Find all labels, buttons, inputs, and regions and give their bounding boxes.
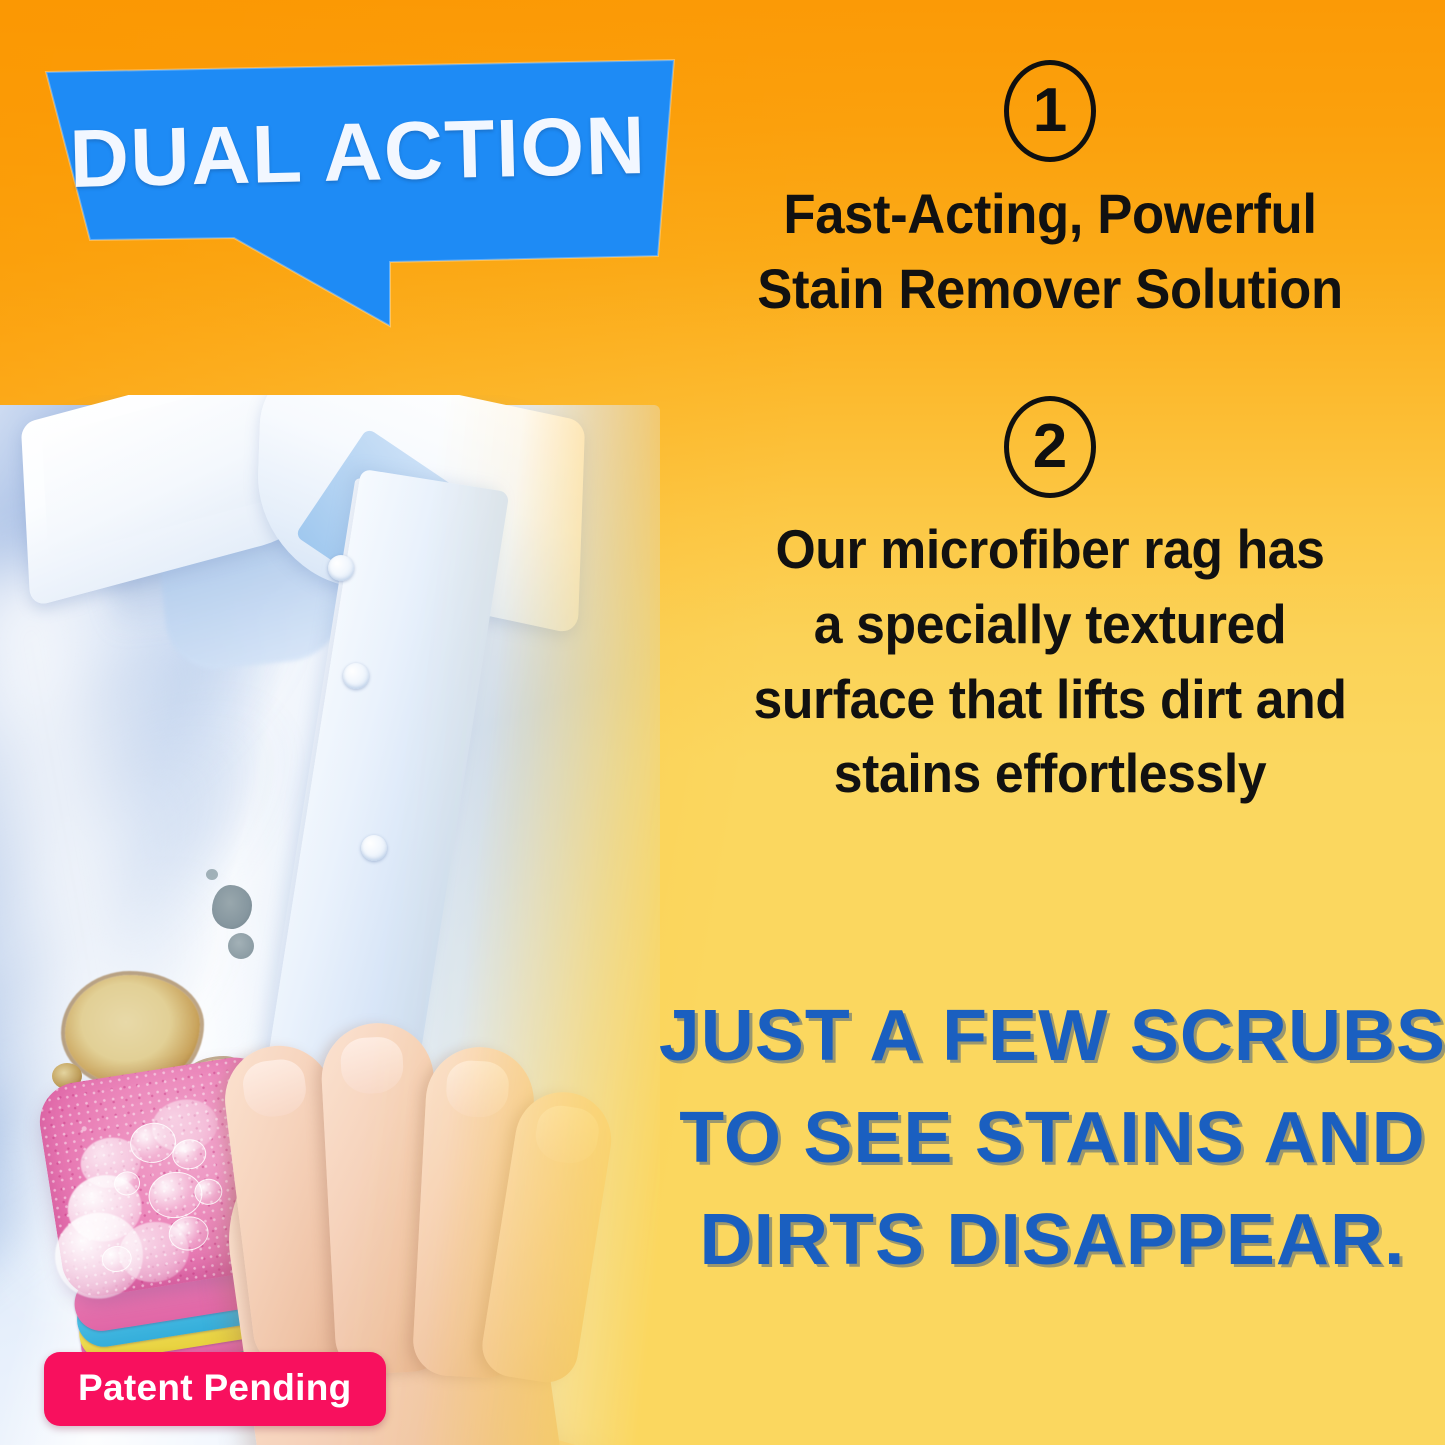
fingernail xyxy=(240,1057,308,1120)
feature-number-2: 2 xyxy=(1004,396,1096,498)
fingernail xyxy=(340,1036,405,1095)
feature-text-1: Fast-Acting, Powerful Stain Remover Solu… xyxy=(679,176,1422,326)
shirt-button xyxy=(328,555,354,581)
feature-list: 1 Fast-Acting, Powerful Stain Remover So… xyxy=(655,60,1445,811)
headline-line-2: TO SEE STAINS AND xyxy=(652,1087,1445,1189)
feature-text-2: Our microfiber rag has a specially textu… xyxy=(679,512,1422,811)
feature-item-1: 1 Fast-Acting, Powerful Stain Remover So… xyxy=(655,60,1445,326)
shirt-button xyxy=(361,835,387,861)
feature-1-line-2: Stain Remover Solution xyxy=(679,251,1422,326)
feature-2-line-4: stains effortlessly xyxy=(679,736,1422,811)
feature-1-line-1: Fast-Acting, Powerful xyxy=(679,176,1422,251)
feature-number-1: 1 xyxy=(1004,60,1096,162)
shirt-button xyxy=(343,663,369,689)
banner-speech-bubble-shape xyxy=(38,58,678,328)
feature-2-line-1: Our microfiber rag has xyxy=(679,512,1422,587)
shirt-cleaning-photo xyxy=(0,395,680,1445)
feature-item-2: 2 Our microfiber rag has a specially tex… xyxy=(655,396,1445,811)
feature-2-line-3: surface that lifts dirt and xyxy=(679,662,1422,737)
headline-line-1: JUST A FEW SCRUBS xyxy=(652,985,1445,1087)
product-infographic-poster: DUAL ACTION 1 Fast-Acting, Powerful Stai… xyxy=(0,0,1445,1445)
dual-action-banner: DUAL ACTION xyxy=(38,58,678,328)
feature-2-line-2: a specially textured xyxy=(679,587,1422,662)
fingernail xyxy=(445,1059,510,1118)
headline-line-3: DIRTS DISAPPEAR. xyxy=(652,1189,1445,1291)
headline: JUST A FEW SCRUBS TO SEE STAINS AND DIRT… xyxy=(660,985,1445,1292)
patent-pending-label: Patent Pending xyxy=(78,1367,352,1408)
dirt-smudge xyxy=(206,869,218,880)
dirt-smudge xyxy=(228,933,254,959)
patent-pending-badge: Patent Pending xyxy=(44,1352,386,1426)
fingernail xyxy=(532,1102,602,1167)
